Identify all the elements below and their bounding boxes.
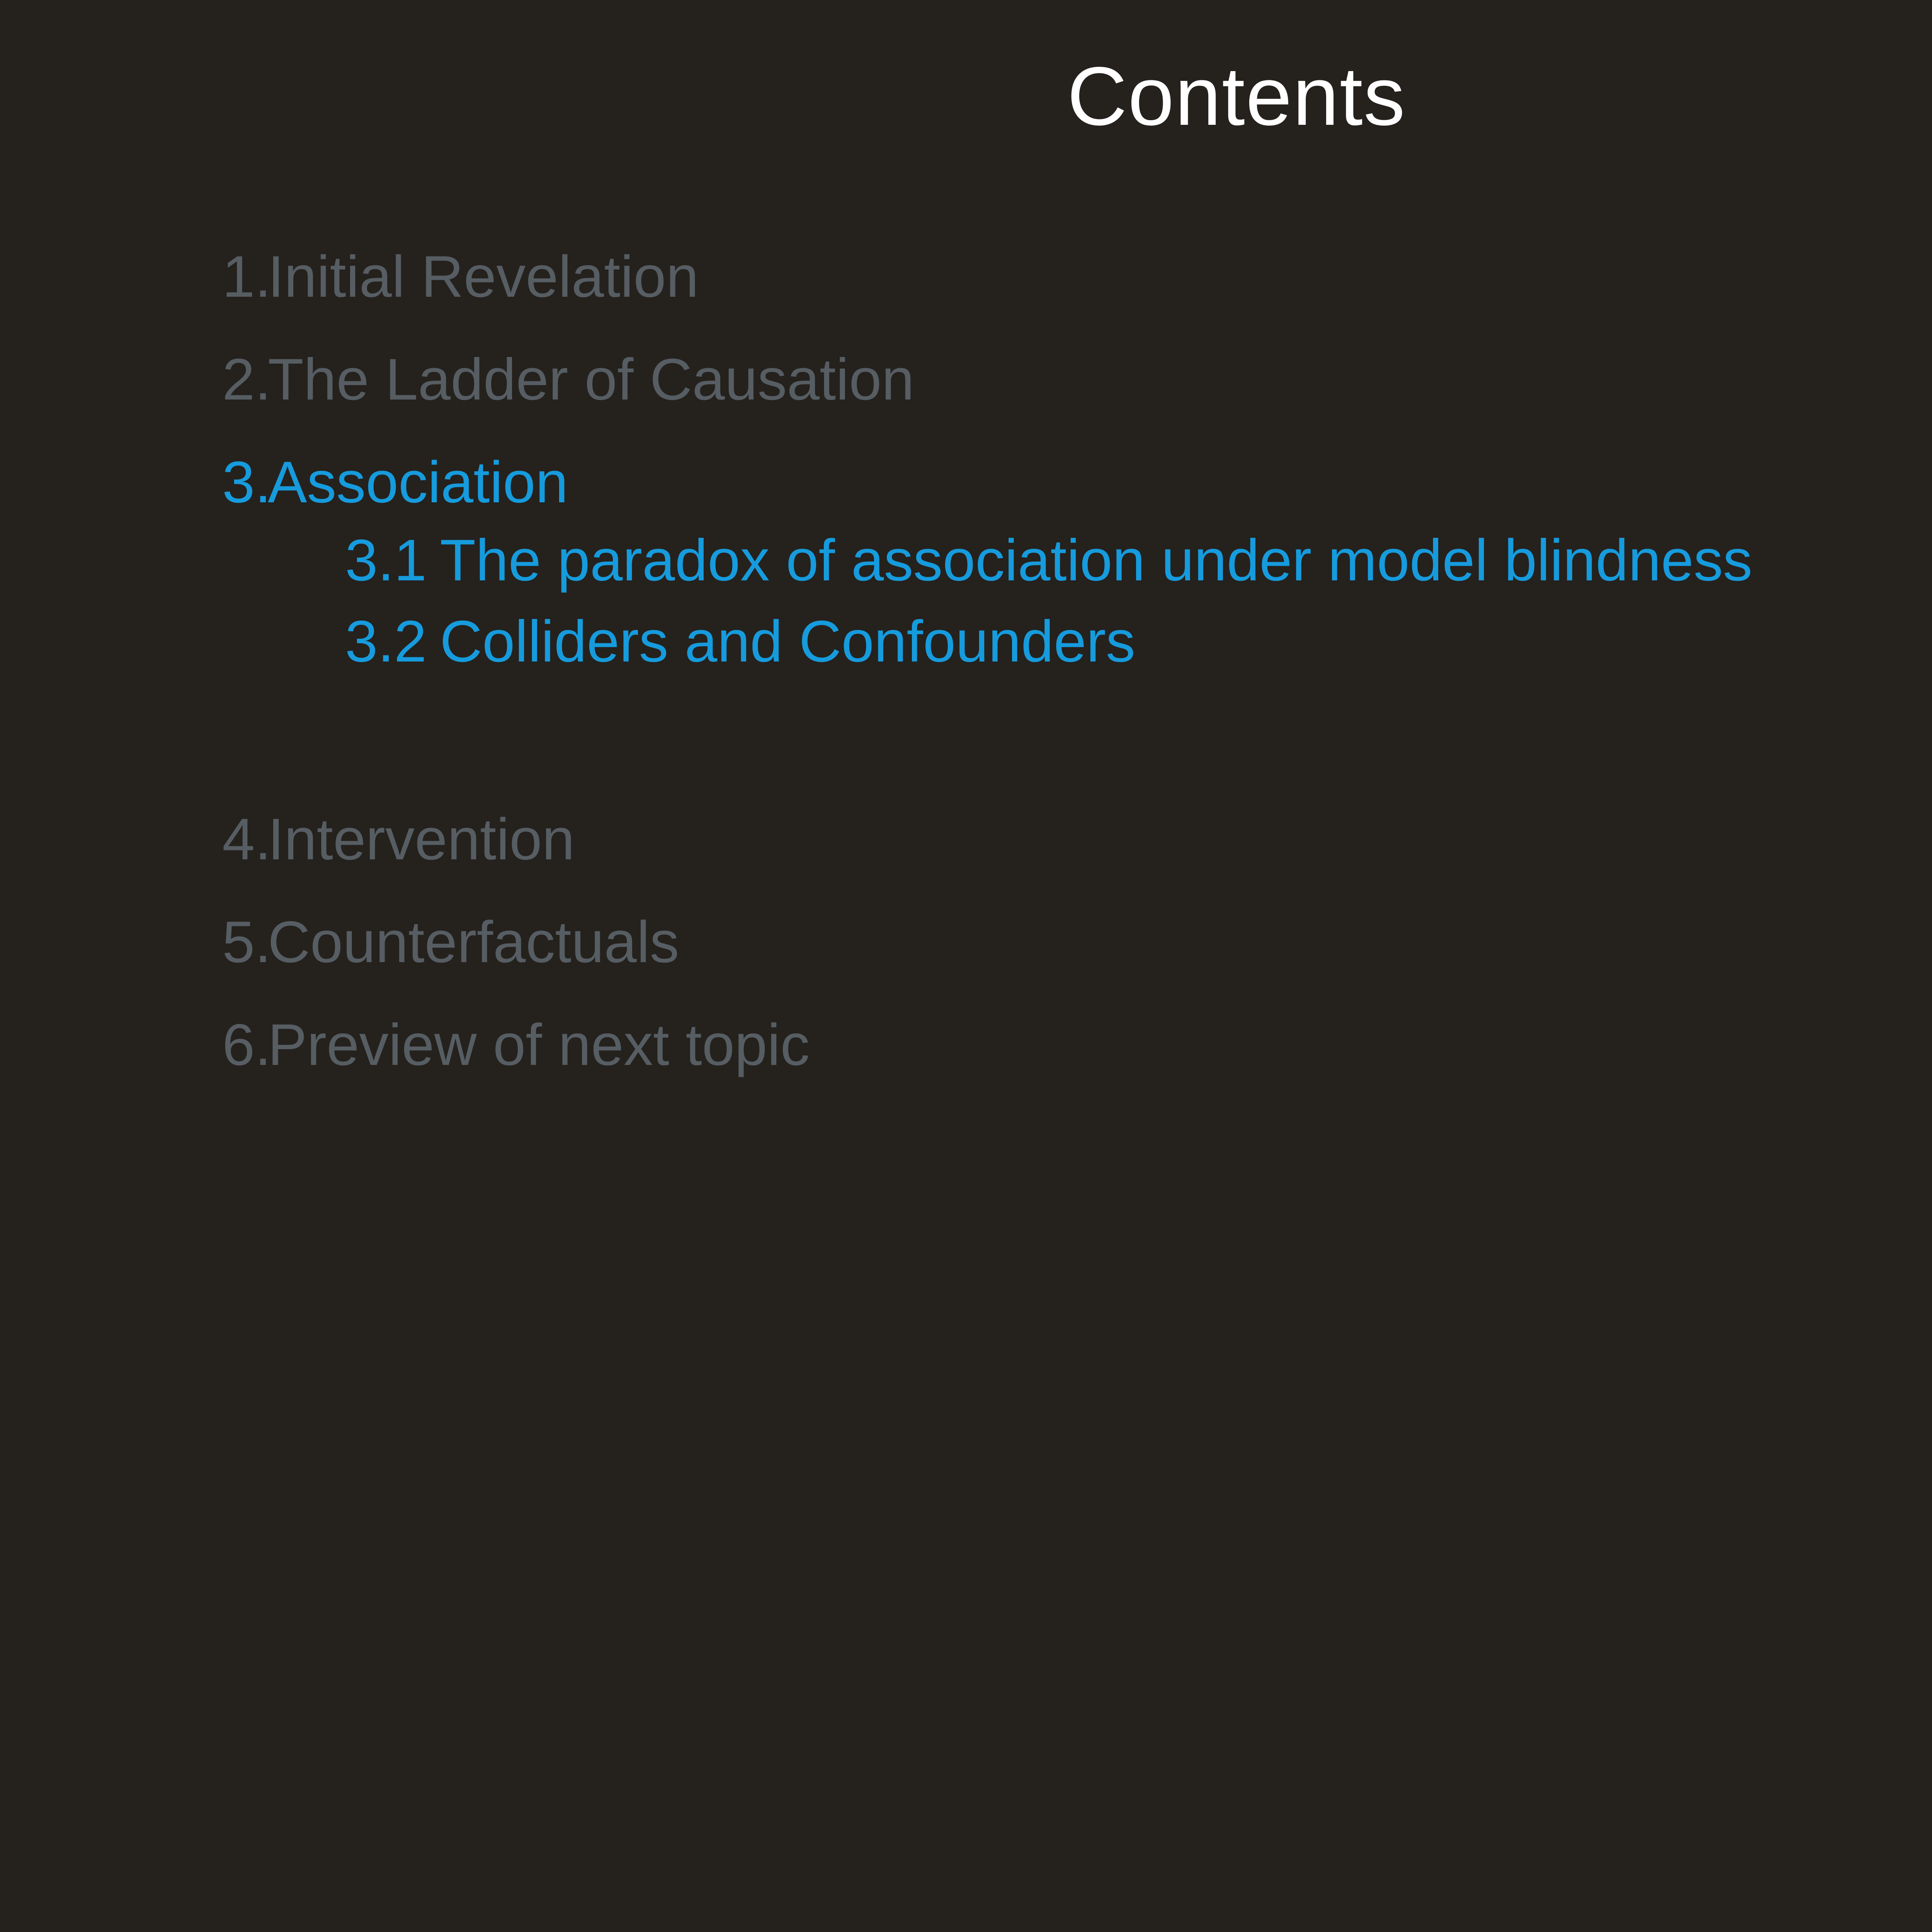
toc-section-number: 4. [222,810,268,869]
toc-section-1[interactable]: 1. Initial Revelation [0,247,1932,350]
toc-subsection-3-1[interactable]: 3.1 The paradox of association under mod… [345,520,1932,601]
toc-subsection-list: 3.1 The paradox of association under mod… [222,520,1932,682]
toc-section-4[interactable]: 4. Intervention [0,810,1932,913]
toc-section-label: Counterfactuals [268,913,679,971]
toc-section-label: Initial Revelation [268,247,699,306]
toc-section-number: 5. [222,913,268,971]
toc-subsection-number: 3.2 [345,601,427,682]
toc-subsection-number: 3.1 [345,520,427,601]
toc-section-label: The Ladder of Causation [268,350,914,409]
toc-subsection-label: Colliders and Confounders [440,601,1135,682]
page-title: Contents [0,48,1932,144]
toc-section-label: Association [268,453,568,512]
toc-section-number: 6. [222,1015,268,1074]
toc-section-number: 2. [222,350,268,409]
presentation-slide: Contents [0,0,1932,1932]
toc-section-2[interactable]: 2. The Ladder of Causation [0,350,1932,453]
toc-section-label: Preview of next topic [268,1015,810,1074]
toc-section-3[interactable]: 3. Association 3.1 The paradox of associ… [0,453,1932,810]
toc-section-6[interactable]: 6. Preview of next topic [0,1015,1932,1118]
toc-section-label: Intervention [268,810,575,869]
toc-section-number: 3. [222,453,268,512]
toc-subsection-label: The paradox of association under model b… [440,520,1752,601]
toc-section-5[interactable]: 5. Counterfactuals [0,913,1932,1015]
toc-subsection-3-2[interactable]: 3.2 Colliders and Confounders [345,601,1932,682]
spacer [222,682,1932,810]
toc-section-number: 1. [222,247,268,306]
table-of-contents: 1. Initial Revelation 2. The Ladder of C… [0,247,1932,1118]
